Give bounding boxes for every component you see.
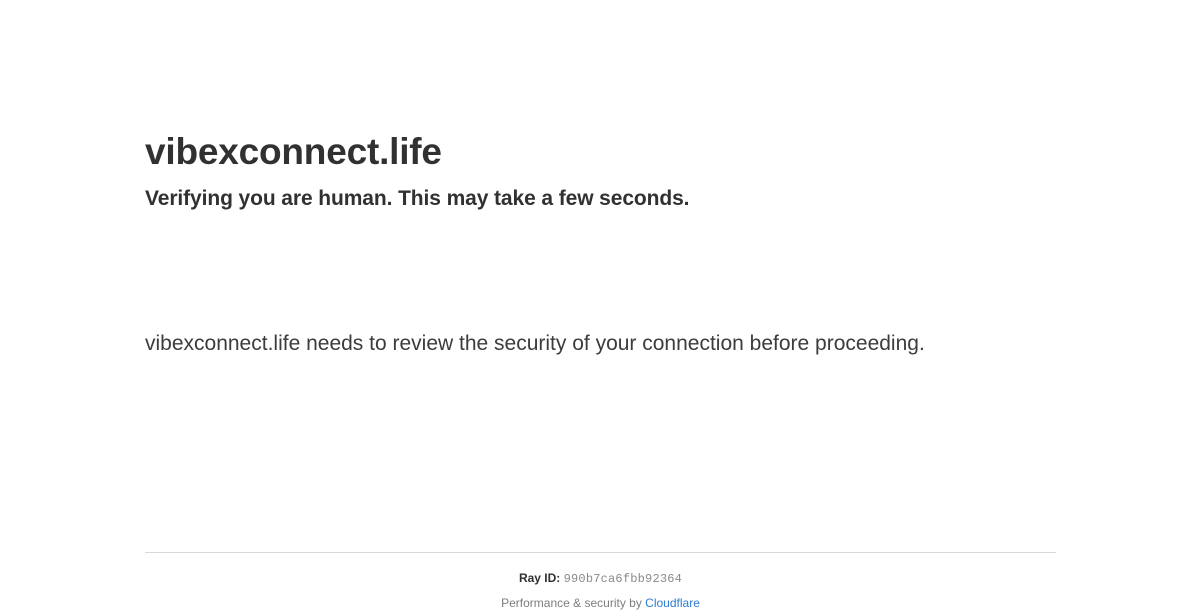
verification-page: vibexconnect.life Verifying you are huma…: [0, 0, 1200, 600]
verification-status-text: Verifying you are human. This may take a…: [145, 186, 1056, 212]
ray-id-value: 990b7ca6fbb92364: [564, 572, 682, 586]
page-footer: Ray ID: 990b7ca6fbb92364 Performance & s…: [145, 552, 1056, 610]
cloudflare-link[interactable]: Cloudflare: [645, 596, 700, 610]
attribution-row: Performance & security by Cloudflare: [145, 586, 1056, 610]
main-content: vibexconnect.life Verifying you are huma…: [145, 130, 1056, 362]
attribution-prefix: Performance & security by: [501, 596, 645, 610]
ray-id-label: Ray ID:: [519, 571, 560, 585]
ray-id-row: Ray ID: 990b7ca6fbb92364: [145, 553, 1056, 586]
turnstile-challenge-widget[interactable]: [145, 234, 445, 308]
explanation-text: vibexconnect.life needs to review the se…: [145, 326, 945, 362]
page-title: vibexconnect.life: [145, 130, 1056, 174]
content-container: vibexconnect.life Verifying you are huma…: [145, 0, 1056, 600]
